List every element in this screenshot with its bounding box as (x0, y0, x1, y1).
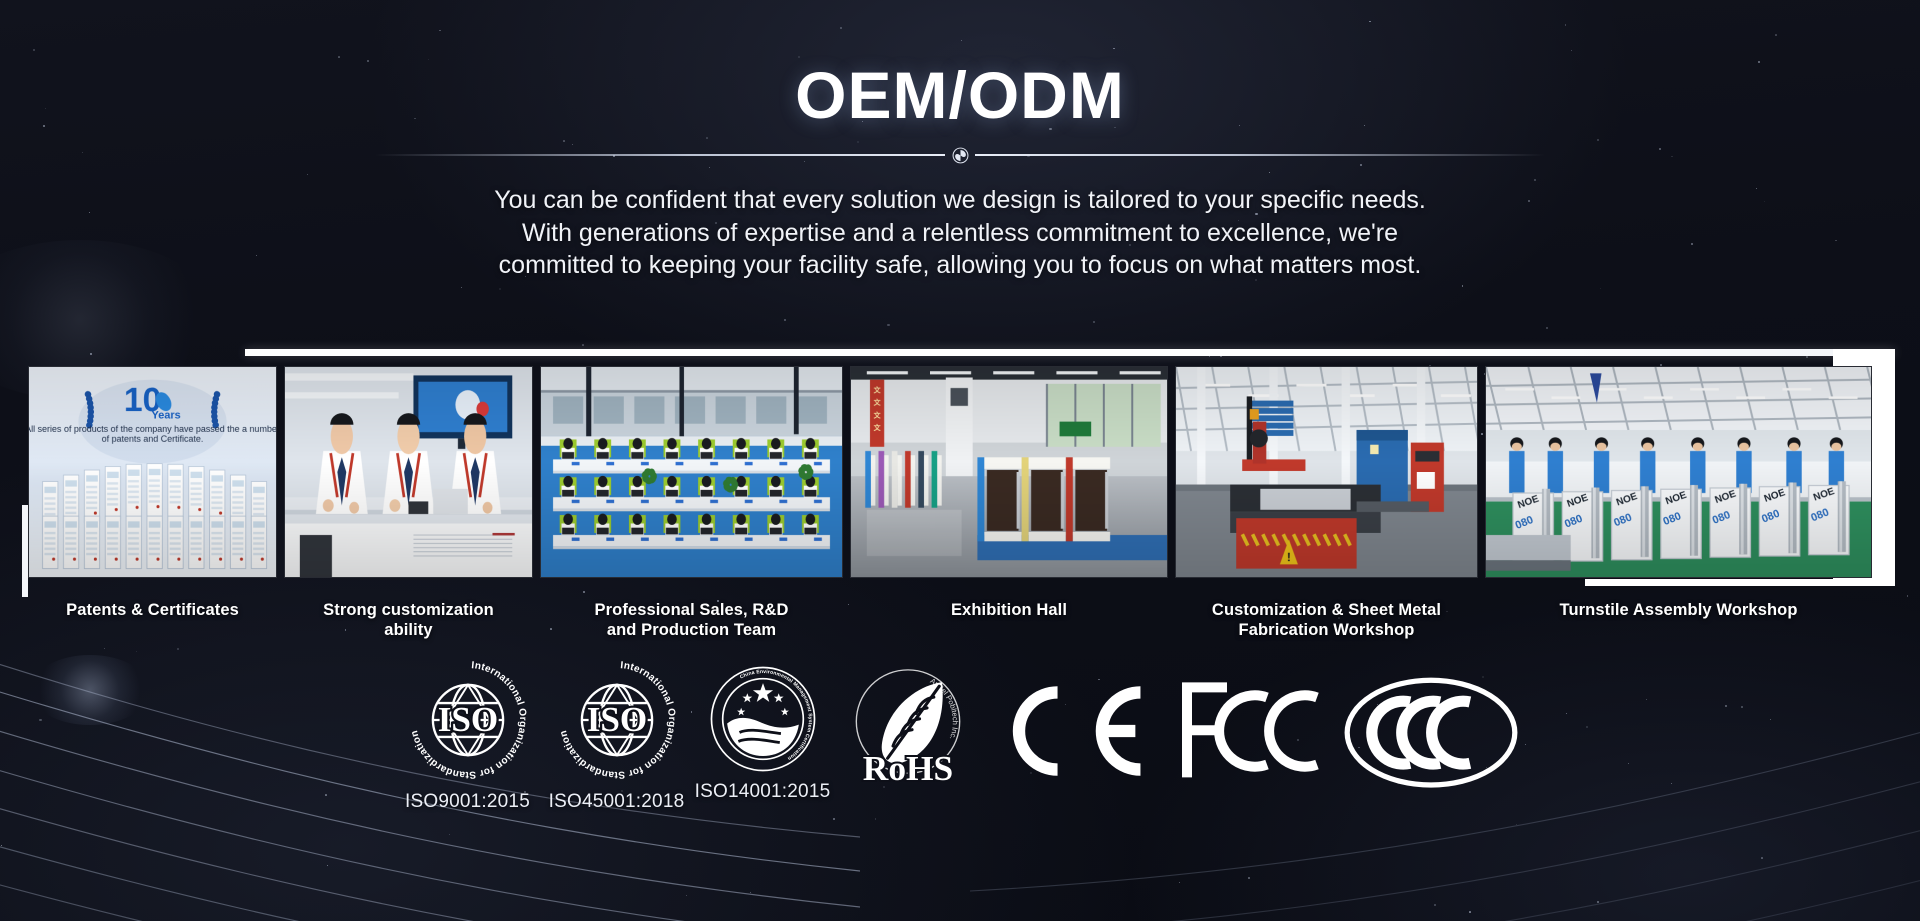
factory-photo-strip (28, 366, 1868, 578)
certification-row: International Organization for Standardi… (0, 655, 1920, 880)
iso45001-glyph: International Organization for Standardi… (552, 655, 682, 785)
ce-mark-icon (995, 675, 1155, 787)
gallery-frame-top-bar (245, 349, 1895, 356)
cert-iso9001: International Organization for Standardi… (395, 655, 541, 813)
cert-iso14001-label: ISO14001:2015 (695, 781, 831, 803)
ccc-glyph (1341, 675, 1521, 791)
page-title: OEM/ODM (0, 62, 1920, 128)
iso14001-glyph: China Environmental Management System Ce… (707, 663, 819, 775)
cec-seal-icon: China Environmental Management System Ce… (707, 663, 819, 775)
iso9001-glyph: International Organization for Standardi… (403, 655, 533, 785)
cert-iso14001: China Environmental Management System Ce… (693, 655, 833, 803)
cert-iso9001-label: ISO9001:2015 (405, 791, 530, 813)
gallery-photo-assembly[interactable] (1485, 366, 1872, 578)
gallery-photo-customization[interactable] (284, 366, 533, 578)
ccc-mark-icon (1341, 675, 1521, 791)
subtitle-line-2: With generations of expertise and a rele… (460, 217, 1460, 250)
svg-text:RoHS: RoHS (862, 748, 952, 788)
caption-line: and Production Team (505, 620, 878, 640)
cert-rohs: AnBel Pobltech Inc. RoHS (833, 655, 983, 801)
gallery-photo-exhibition[interactable] (850, 366, 1168, 578)
svg-text:ISO: ISO (586, 700, 646, 739)
fcc-glyph (1177, 677, 1327, 785)
cert-fcc (1168, 655, 1336, 791)
photo-caption-assembly: Turnstile Assembly Workshop (1450, 600, 1907, 620)
subtitle-line-1: You can be confident that every solution… (460, 184, 1460, 217)
divider-line-left (375, 154, 945, 156)
banner-subtitle: You can be confident that every solution… (460, 184, 1460, 282)
gallery-photo-fabrication[interactable] (1175, 366, 1478, 578)
cert-ce (983, 655, 1168, 793)
pinwheel-ornament-icon (945, 147, 975, 163)
divider-line-right (975, 154, 1545, 156)
pinwheel-ornament-glyph (952, 147, 969, 164)
caption-line: Turnstile Assembly Workshop (1450, 600, 1907, 620)
iso-globe-icon: International Organization for Standardi… (403, 655, 533, 785)
cert-iso45001: International Organization for Standardi… (541, 655, 693, 813)
title-divider (375, 147, 1545, 163)
gallery-frame-bottom-bar (1585, 579, 1895, 586)
rohs-glyph: AnBel Pobltech Inc. RoHS (840, 659, 976, 795)
cert-iso45001-label: ISO45001:2018 (549, 791, 685, 813)
fcc-mark-icon (1177, 677, 1327, 785)
cert-ccc (1336, 655, 1526, 797)
banner-header: OEM/ODM You can be confident that every … (0, 0, 1920, 282)
rohs-leaf-icon: AnBel Pobltech Inc. RoHS (840, 659, 976, 795)
iso-globe-icon: International Organization for Standardi… (552, 655, 682, 785)
ce-glyph (995, 675, 1155, 787)
caption-line: Fabrication Workshop (1140, 620, 1513, 640)
svg-text:ISO: ISO (437, 700, 497, 739)
photo-caption-row: Patents & CertificatesStrong customizati… (0, 600, 1920, 652)
oem-odm-banner: OEM/ODM You can be confident that every … (0, 0, 1920, 921)
gallery-photo-patents[interactable] (28, 366, 277, 578)
gallery-photo-team[interactable] (540, 366, 843, 578)
subtitle-line-3: committed to keeping your facility safe,… (460, 249, 1460, 282)
